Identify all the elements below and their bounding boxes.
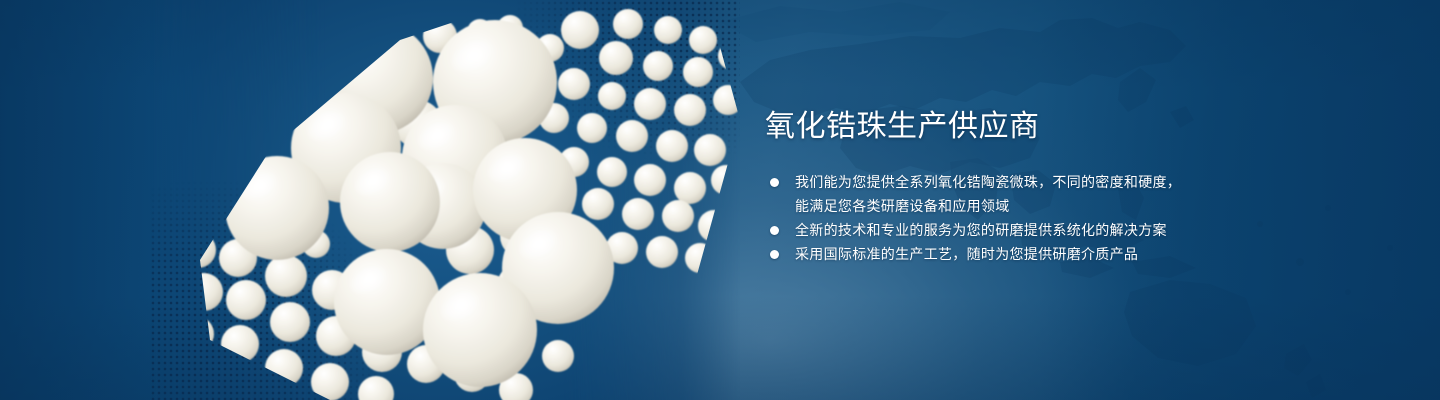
- bullet-text-line2: 能满足您各类研磨设备和应用领域: [795, 194, 1325, 218]
- bullet-dot-icon: [770, 178, 779, 187]
- list-item: 我们能为您提供全系列氧化锆陶瓷微珠，不同的密度和硬度， 能满足您各类研磨设备和应…: [765, 170, 1325, 218]
- bead-cluster: [150, 0, 740, 400]
- product-image-zirconia-beads: [150, 0, 740, 400]
- bullet-dot-icon: [770, 250, 779, 259]
- feature-bullet-list: 我们能为您提供全系列氧化锆陶瓷微珠，不同的密度和硬度， 能满足您各类研磨设备和应…: [765, 170, 1325, 266]
- bullet-text-line1: 全新的技术和专业的服务为您的研磨提供系统化的解决方案: [795, 222, 1167, 238]
- list-item: 全新的技术和专业的服务为您的研磨提供系统化的解决方案: [765, 218, 1325, 242]
- banner-headline: 氧化锆珠生产供应商: [765, 108, 1325, 146]
- list-item: 采用国际标准的生产工艺，随时为您提供研磨介质产品: [765, 242, 1325, 266]
- bullet-text-line1: 我们能为您提供全系列氧化锆陶瓷微珠，不同的密度和硬度，: [795, 174, 1181, 190]
- bullet-dot-icon: [770, 226, 779, 235]
- hero-banner: 氧化锆珠生产供应商 我们能为您提供全系列氧化锆陶瓷微珠，不同的密度和硬度， 能满…: [0, 0, 1440, 400]
- banner-text-column: 氧化锆珠生产供应商 我们能为您提供全系列氧化锆陶瓷微珠，不同的密度和硬度， 能满…: [765, 108, 1325, 266]
- bullet-text-line1: 采用国际标准的生产工艺，随时为您提供研磨介质产品: [795, 246, 1138, 262]
